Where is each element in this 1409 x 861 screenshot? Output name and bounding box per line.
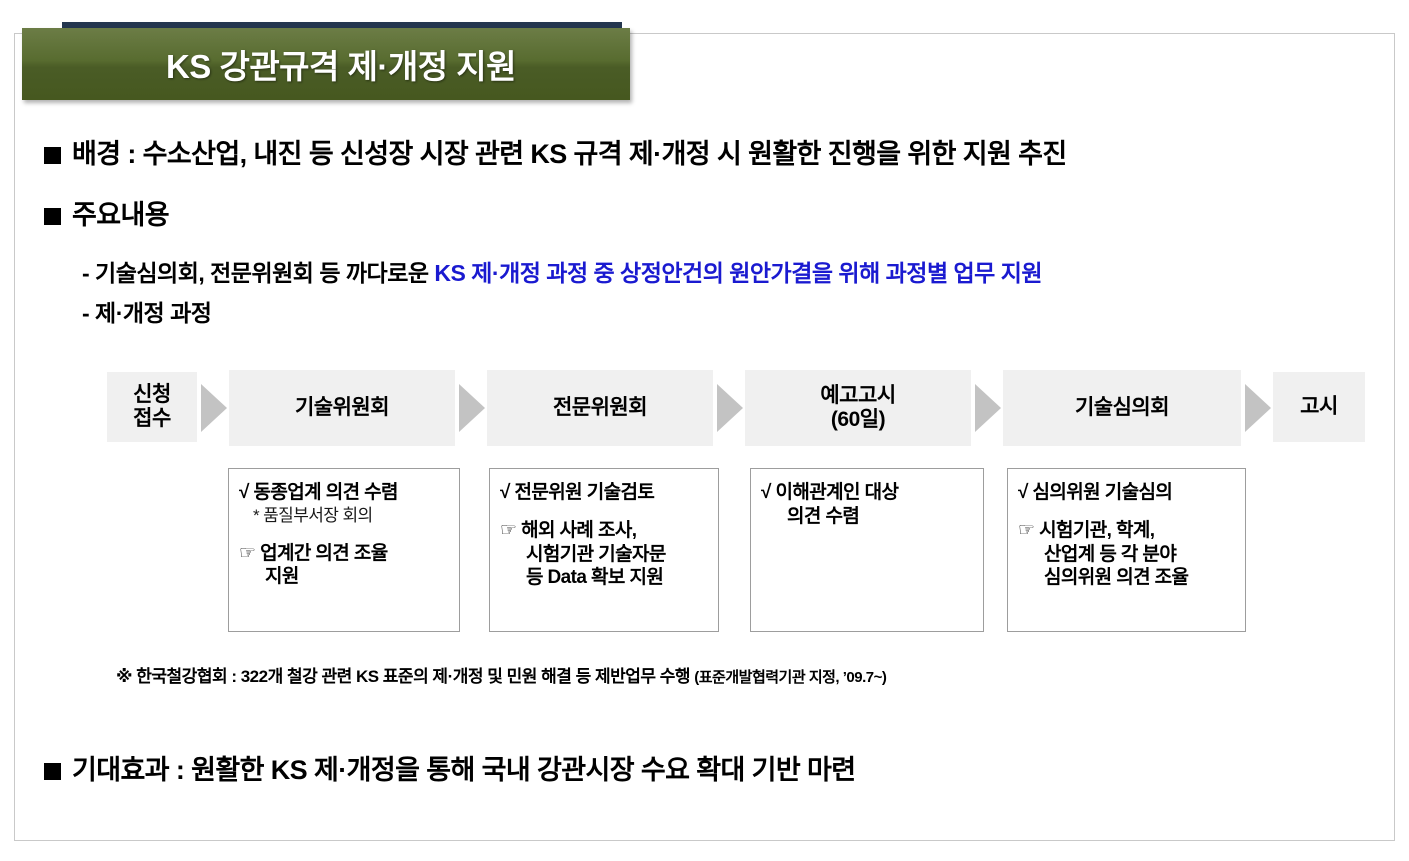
reference-mark-icon: ※ xyxy=(116,667,132,686)
footnote-paren: (표준개발협력기관 지정, ’09.7~) xyxy=(694,669,886,686)
main-heading-text: 주요내용 xyxy=(72,193,169,232)
detail-action-line: ☞ 시험기관, 학계, xyxy=(1018,519,1235,543)
flow-step-label: 전문위원회 xyxy=(553,396,647,420)
spacer xyxy=(239,528,449,542)
flow-step-deliberation-council[interactable]: 기술심의회 xyxy=(1003,370,1241,446)
footnote-text: 한국철강협회 : 322개 철강 관련 KS 표준의 제·개정 및 민원 해결 … xyxy=(136,667,690,686)
flow-arrow-icon xyxy=(459,384,485,432)
flow-step-label: 신청접수 xyxy=(133,383,171,431)
main-sub-line-1: - 기술심의회, 전문위원회 등 까다로운 KS 제·개정 과정 중 상정안건의… xyxy=(82,254,1042,288)
flow-step-pre-announcement[interactable]: 예고고시(60일) xyxy=(745,370,971,446)
flow-step-label: 기술위원회 xyxy=(295,396,389,420)
spacer xyxy=(1018,505,1235,519)
detail-action-line: ☞ 해외 사례 조사, xyxy=(500,519,708,543)
flow-arrow-icon xyxy=(975,384,1001,432)
detail-box-deliberation-council: √ 심의위원 기술심의 ☞ 시험기관, 학계, 산업계 등 각 분야 심의위원 … xyxy=(1007,468,1246,632)
background-bullet-line: 배경 : 수소산업, 내진 등 신성장 시장 관련 KS 규격 제·개정 시 원… xyxy=(44,132,1067,171)
detail-action-line: 시험기관 기술자문 xyxy=(500,543,708,567)
expected-effect-line: 기대효과 : 원활한 KS 제·개정을 통해 국내 강관시장 수요 확대 기반 … xyxy=(44,748,856,787)
detail-box-technical-committee: √ 동종업계 의견 수렴 * 품질부서장 회의 ☞ 업계간 의견 조율 지원 xyxy=(228,468,460,632)
flow-arrow-icon xyxy=(201,384,227,432)
title-banner-body: KS 강관규격 제·개정 지원 xyxy=(22,28,630,100)
flow-step-label: 예고고시(60일) xyxy=(820,384,895,432)
detail-check-line: √ 이해관계인 대상 xyxy=(761,481,973,505)
flow-step-notification[interactable]: 고시 xyxy=(1273,372,1365,442)
detail-box-pre-announcement: √ 이해관계인 대상 의견 수렴 xyxy=(750,468,984,632)
spacer xyxy=(500,505,708,519)
flow-step-label: 기술심의회 xyxy=(1075,396,1169,420)
sub-line-2-plain: 제·개정 과정 xyxy=(89,300,211,326)
sub-line-1-highlight: KS 제·개정 과정 중 상정안건의 원안가결을 위해 과정별 업무 지원 xyxy=(434,260,1042,286)
flow-arrow-icon xyxy=(717,384,743,432)
flow-arrow-icon xyxy=(1245,384,1271,432)
flow-step-expert-committee[interactable]: 전문위원회 xyxy=(487,370,713,446)
square-bullet-icon xyxy=(44,208,61,225)
square-bullet-icon xyxy=(44,147,61,164)
detail-note-line: * 품질부서장 회의 xyxy=(239,505,449,528)
flow-step-technical-committee[interactable]: 기술위원회 xyxy=(229,370,455,446)
flow-step-label: 고시 xyxy=(1300,395,1338,419)
detail-action-line: 심의위원 의견 조율 xyxy=(1018,566,1235,590)
footnote-line: ※ 한국철강협회 : 322개 철강 관련 KS 표준의 제·개정 및 민원 해… xyxy=(116,662,886,687)
detail-check-line: √ 전문위원 기술검토 xyxy=(500,481,708,505)
flow-step-application[interactable]: 신청접수 xyxy=(107,372,197,442)
detail-check-line-2: 의견 수렴 xyxy=(761,505,973,529)
slide-title-banner: KS 강관규격 제·개정 지원 xyxy=(22,22,630,98)
detail-action-line: 등 Data 확보 지원 xyxy=(500,566,708,590)
process-flow-diagram: 신청접수 기술위원회 전문위원회 예고고시(60일) 기술심의회 고시 xyxy=(107,370,1365,446)
detail-action-line: 지원 xyxy=(239,565,449,589)
page-title: KS 강관규격 제·개정 지원 xyxy=(136,40,516,88)
detail-check-line: √ 동종업계 의견 수렴 xyxy=(239,481,449,505)
background-text: 배경 : 수소산업, 내진 등 신성장 시장 관련 KS 규격 제·개정 시 원… xyxy=(72,132,1067,171)
main-heading-line: 주요내용 xyxy=(44,193,169,232)
expected-effect-text: 기대효과 : 원활한 KS 제·개정을 통해 국내 강관시장 수요 확대 기반 … xyxy=(72,748,856,787)
main-sub-line-2: - 제·개정 과정 xyxy=(82,294,211,328)
square-bullet-icon xyxy=(44,763,61,780)
detail-check-line: √ 심의위원 기술심의 xyxy=(1018,481,1235,505)
detail-box-expert-committee: √ 전문위원 기술검토 ☞ 해외 사례 조사, 시험기관 기술자문 등 Data… xyxy=(489,468,719,632)
detail-action-line: ☞ 업계간 의견 조율 xyxy=(239,542,449,566)
sub-line-1-plain: 기술심의회, 전문위원회 등 까다로운 xyxy=(89,260,434,286)
detail-action-line: 산업계 등 각 분야 xyxy=(1018,543,1235,567)
